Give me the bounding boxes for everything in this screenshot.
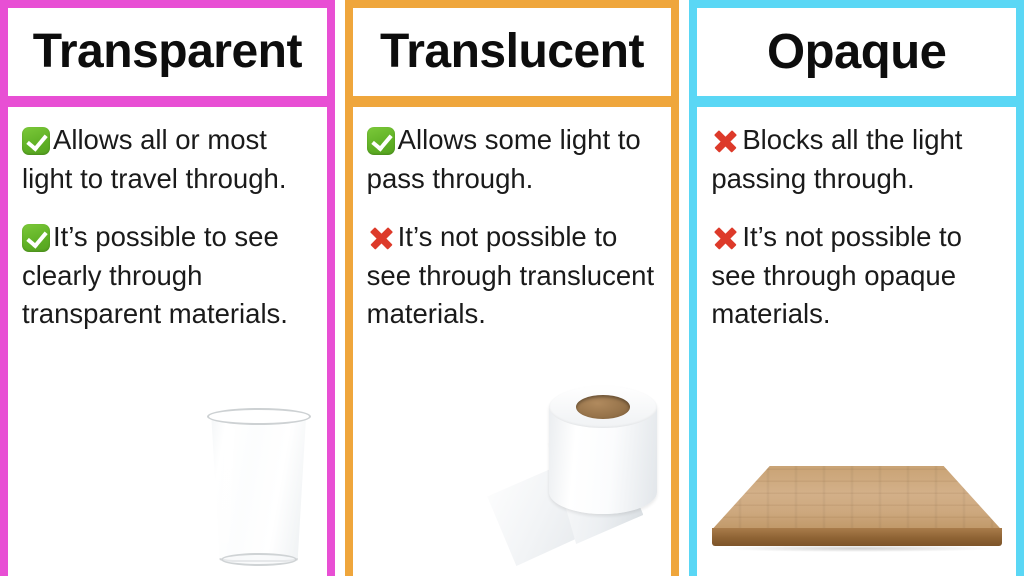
cross-icon <box>367 224 395 252</box>
bullet-item: Blocks all the light passing through. <box>711 121 1004 198</box>
card-title-box-opaque: Opaque <box>697 8 1016 96</box>
comparison-board: Transparent Allows all or most light to … <box>0 0 1024 576</box>
cross-icon <box>711 127 739 155</box>
bullet-text: Blocks all the light passing through. <box>711 124 962 194</box>
roll-cardboard-core <box>576 395 630 419</box>
bullet-text: It’s not possible to see through translu… <box>367 221 654 329</box>
card-body-opaque: Blocks all the light passing through. It… <box>697 107 1016 576</box>
card-title-box-transparent: Transparent <box>8 8 327 96</box>
board-wood-grain <box>712 466 1002 530</box>
card-body-transparent: Allows all or most light to travel throu… <box>8 107 327 576</box>
card-title-translucent: Translucent <box>380 28 644 76</box>
card-title-opaque: Opaque <box>767 28 946 77</box>
bullet-text: It’s not possible to see through opaque … <box>711 221 962 329</box>
check-icon <box>367 127 395 155</box>
card-title-transparent: Transparent <box>33 28 302 76</box>
drinking-glass-illustration <box>205 408 313 568</box>
bullet-item: It’s not possible to see through translu… <box>367 218 660 334</box>
card-body-translucent: Allows some light to pass through. It’s … <box>353 107 672 576</box>
card-title-box-translucent: Translucent <box>353 8 672 96</box>
bullet-item: It’s not possible to see through opaque … <box>711 218 1004 334</box>
wooden-board-illustration <box>712 466 1002 552</box>
board-front-edge <box>712 528 1002 546</box>
check-icon <box>22 127 50 155</box>
bullet-text: It’s possible to see clearly through tra… <box>22 221 288 329</box>
card-transparent: Transparent Allows all or most light to … <box>0 0 335 576</box>
toilet-paper-roll-illustration <box>487 386 665 566</box>
card-opaque: Opaque Blocks all the light passing thro… <box>689 0 1024 576</box>
cross-icon <box>711 224 739 252</box>
glass-base <box>221 553 297 566</box>
bullet-text: Allows all or most light to travel throu… <box>22 124 286 194</box>
bullet-item: It’s possible to see clearly through tra… <box>22 218 315 334</box>
bullet-item: Allows all or most light to travel throu… <box>22 121 315 198</box>
board-shadow <box>722 545 992 552</box>
glass-rim <box>207 408 311 425</box>
bullet-item: Allows some light to pass through. <box>367 121 660 198</box>
card-translucent: Translucent Allows some light to pass th… <box>345 0 680 576</box>
check-icon <box>22 224 50 252</box>
bullet-text: Allows some light to pass through. <box>367 124 641 194</box>
